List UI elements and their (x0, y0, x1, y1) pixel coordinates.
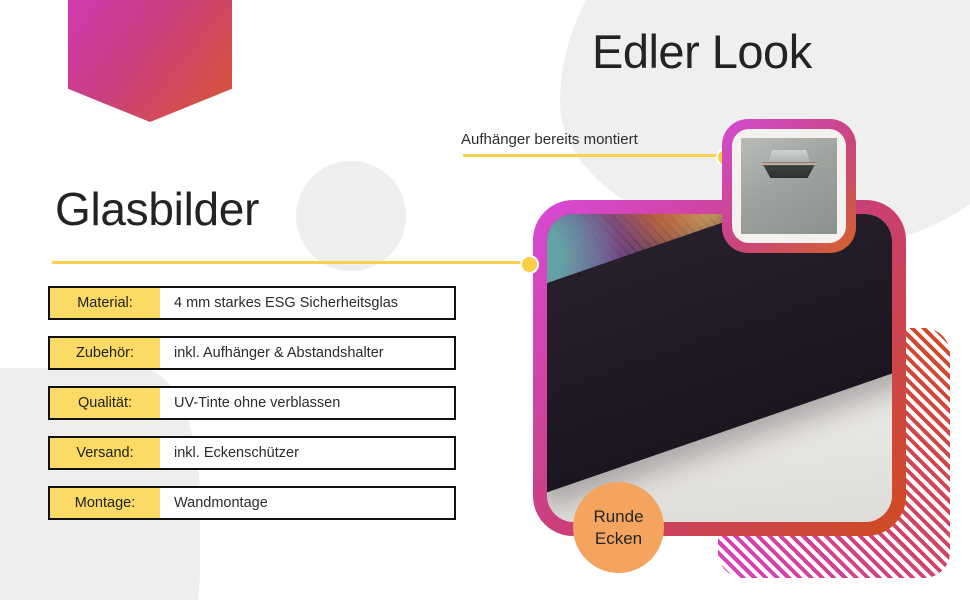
product-photo-frame (533, 200, 906, 536)
connector-dot-specs (520, 255, 539, 274)
hanger-photo (741, 138, 837, 234)
spec-key: Versand: (50, 438, 160, 468)
spec-value: 4 mm starkes ESG Sicherheitsglas (160, 288, 454, 318)
table-row: Qualität: UV-Tinte ohne verblassen (48, 386, 456, 420)
page-title: Glasbilder (55, 182, 259, 236)
spec-key: Qualität: (50, 388, 160, 418)
badge-line-2: Ecken (595, 528, 642, 549)
spec-value: UV-Tinte ohne verblassen (160, 388, 454, 418)
shield-banner-icon (68, 0, 232, 122)
hanger-inset-matte (732, 129, 846, 243)
product-photo (547, 214, 892, 522)
hanger-callout-label: Aufhänger bereits montiert (461, 131, 638, 148)
wall-hanger-bracket-icon (761, 150, 817, 179)
spec-value: Wandmontage (160, 488, 454, 518)
spec-key: Montage: (50, 488, 160, 518)
infographic-canvas: Edler Look Glasbilder Aufhänger bereits … (0, 0, 970, 600)
spec-key: Material: (50, 288, 160, 318)
hanger-inset-frame (722, 119, 856, 253)
table-row: Versand: inkl. Eckenschützer (48, 436, 456, 470)
spec-value: inkl. Aufhänger & Abstandshalter (160, 338, 454, 368)
spec-table: Material: 4 mm starkes ESG Sicherheitsgl… (48, 286, 456, 520)
spec-value: inkl. Eckenschützer (160, 438, 454, 468)
table-row: Zubehör: inkl. Aufhänger & Abstandshalte… (48, 336, 456, 370)
background-circle-behind-title (296, 161, 406, 271)
spec-key: Zubehör: (50, 338, 160, 368)
round-corners-badge: Runde Ecken (573, 482, 664, 573)
photo-grain-overlay (547, 214, 892, 522)
page-title-style: Edler Look (592, 24, 812, 79)
table-row: Montage: Wandmontage (48, 486, 456, 520)
table-row: Material: 4 mm starkes ESG Sicherheitsgl… (48, 286, 456, 320)
badge-line-1: Runde (593, 506, 643, 527)
hanger-bracket-bottom (763, 165, 814, 178)
connector-line-specs (52, 261, 530, 264)
connector-line-hanger (463, 154, 725, 157)
